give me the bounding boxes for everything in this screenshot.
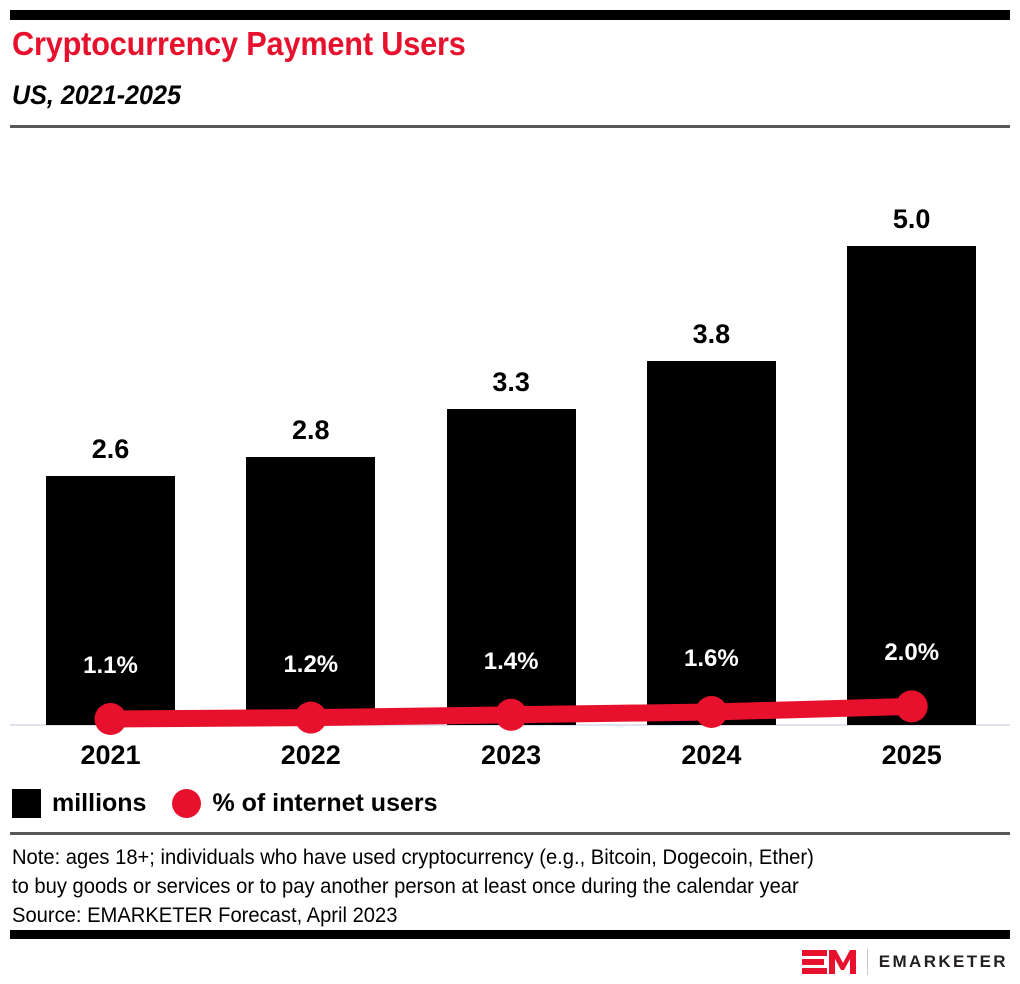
brand-wordmark: EMARKETER <box>879 952 1008 972</box>
black-square-icon <box>12 789 41 818</box>
bottom-rule <box>10 930 1010 939</box>
x-axis-label-2024: 2024 <box>617 740 806 771</box>
pct-value-2022: 1.2% <box>226 651 395 679</box>
legend-item-millions: millions <box>12 789 146 818</box>
line-marker-2025 <box>896 690 928 722</box>
x-axis-label-2021: 2021 <box>16 740 205 771</box>
pct-value-2025: 2.0% <box>827 639 996 667</box>
top-rule <box>10 10 1010 20</box>
plot-area: 2.6 2.8 3.3 3.8 5.0 1.1% 1.2% 1.4% 1.6% … <box>0 0 1020 984</box>
bar-value-2021: 2.6 <box>16 434 205 465</box>
pct-value-2021: 1.1% <box>26 652 195 680</box>
bar-2023 <box>447 409 576 725</box>
red-circle-icon <box>172 789 201 818</box>
pct-value-2023: 1.4% <box>427 648 596 676</box>
line-marker-2023 <box>495 699 527 731</box>
em-logo-icon <box>802 949 856 975</box>
note-line-1: Note: ages 18+; individuals who have use… <box>12 843 962 872</box>
bar-value-2024: 3.8 <box>617 319 806 350</box>
logo-divider <box>867 949 868 975</box>
source-line: Source: EMARKETER Forecast, April 2023 <box>12 901 962 930</box>
page-subtitle: US, 2021-2025 <box>12 80 181 110</box>
bar-2024 <box>647 361 776 725</box>
line-series-overlay <box>0 0 1020 984</box>
bar-value-2022: 2.8 <box>216 415 405 446</box>
x-axis-label-2023: 2023 <box>417 740 606 771</box>
note-divider <box>10 832 1010 835</box>
bar-value-2025: 5.0 <box>817 204 1006 235</box>
pct-value-2024: 1.6% <box>627 645 796 673</box>
legend-item-percent: % of internet users <box>172 789 437 818</box>
line-marker-2024 <box>695 696 727 728</box>
legend-label-millions: millions <box>52 789 146 818</box>
header-divider <box>10 125 1010 128</box>
bar-2025 <box>847 246 976 725</box>
legend-label-percent: % of internet users <box>212 789 437 818</box>
bar-value-2023: 3.3 <box>417 367 606 398</box>
chart-page: Cryptocurrency Payment Users US, 2021-20… <box>0 0 1020 984</box>
line-marker-2021 <box>95 703 127 735</box>
bar-2022 <box>246 457 375 725</box>
footer-branding: EMARKETER <box>802 948 1008 976</box>
x-axis-label-2022: 2022 <box>216 740 405 771</box>
note-line-2: to buy goods or services or to pay anoth… <box>12 872 962 901</box>
chart-legend: millions % of internet users <box>12 789 438 818</box>
page-title: Cryptocurrency Payment Users <box>12 26 466 63</box>
note-block: Note: ages 18+; individuals who have use… <box>12 843 1002 930</box>
line-marker-2022 <box>295 702 327 734</box>
axis-baseline <box>10 724 1010 726</box>
x-axis-label-2025: 2025 <box>817 740 1006 771</box>
bar-2021 <box>46 476 175 725</box>
